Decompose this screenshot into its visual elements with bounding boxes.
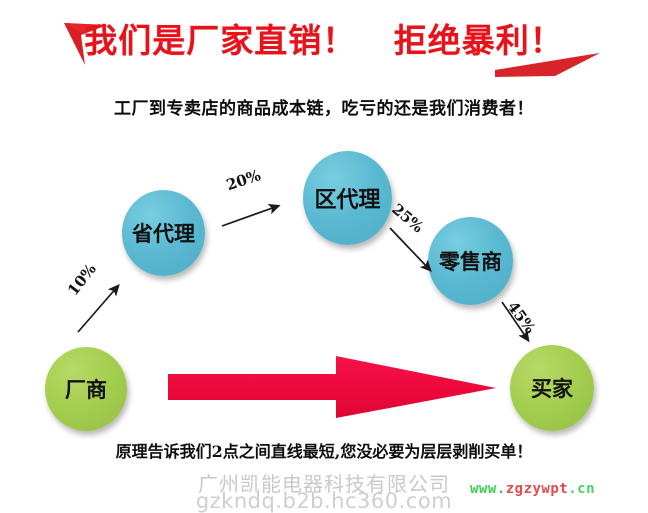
watermark-site-prefix: www. [470, 481, 506, 497]
node-manufacturer-label: 厂商 [65, 374, 107, 404]
node-provincial-agent[interactable]: 省代理 [122, 190, 205, 276]
edge-big-red-arrow-manufacturer-to-buyer [168, 352, 496, 422]
bottom-caption: 原理告诉我们2点之间直线最短,您没必要为层层剥削买单！ [0, 438, 648, 462]
node-district-agent[interactable]: 区代理 [303, 151, 392, 245]
edge-label-20-percent: 20% [224, 166, 263, 194]
watermark-site-name: zgzywpt [506, 481, 569, 497]
promo-banner: 我们是厂家直销！ 拒绝暴利！ 工厂到专卖店的商品成本链，吃亏的还是我们消费者！ … [0, 0, 648, 513]
node-buyer-label: 买家 [531, 373, 573, 403]
edge-arrow-provincial-agent-to-district-agent [218, 198, 288, 234]
node-manufacturer[interactable]: 厂商 [45, 347, 127, 431]
node-district-agent-label: 区代理 [314, 182, 380, 214]
page-headline: 我们是厂家直销！ 拒绝暴利！ [0, 14, 648, 62]
node-buyer[interactable]: 买家 [510, 345, 594, 431]
watermark-site-tld: .cn [568, 481, 595, 497]
node-provincial-agent-label: 省代理 [132, 218, 195, 248]
watermark-site-url: www.zgzywpt.cn [470, 481, 595, 497]
page-subtitle: 工厂到专卖店的商品成本链，吃亏的还是我们消费者！ [0, 94, 648, 119]
